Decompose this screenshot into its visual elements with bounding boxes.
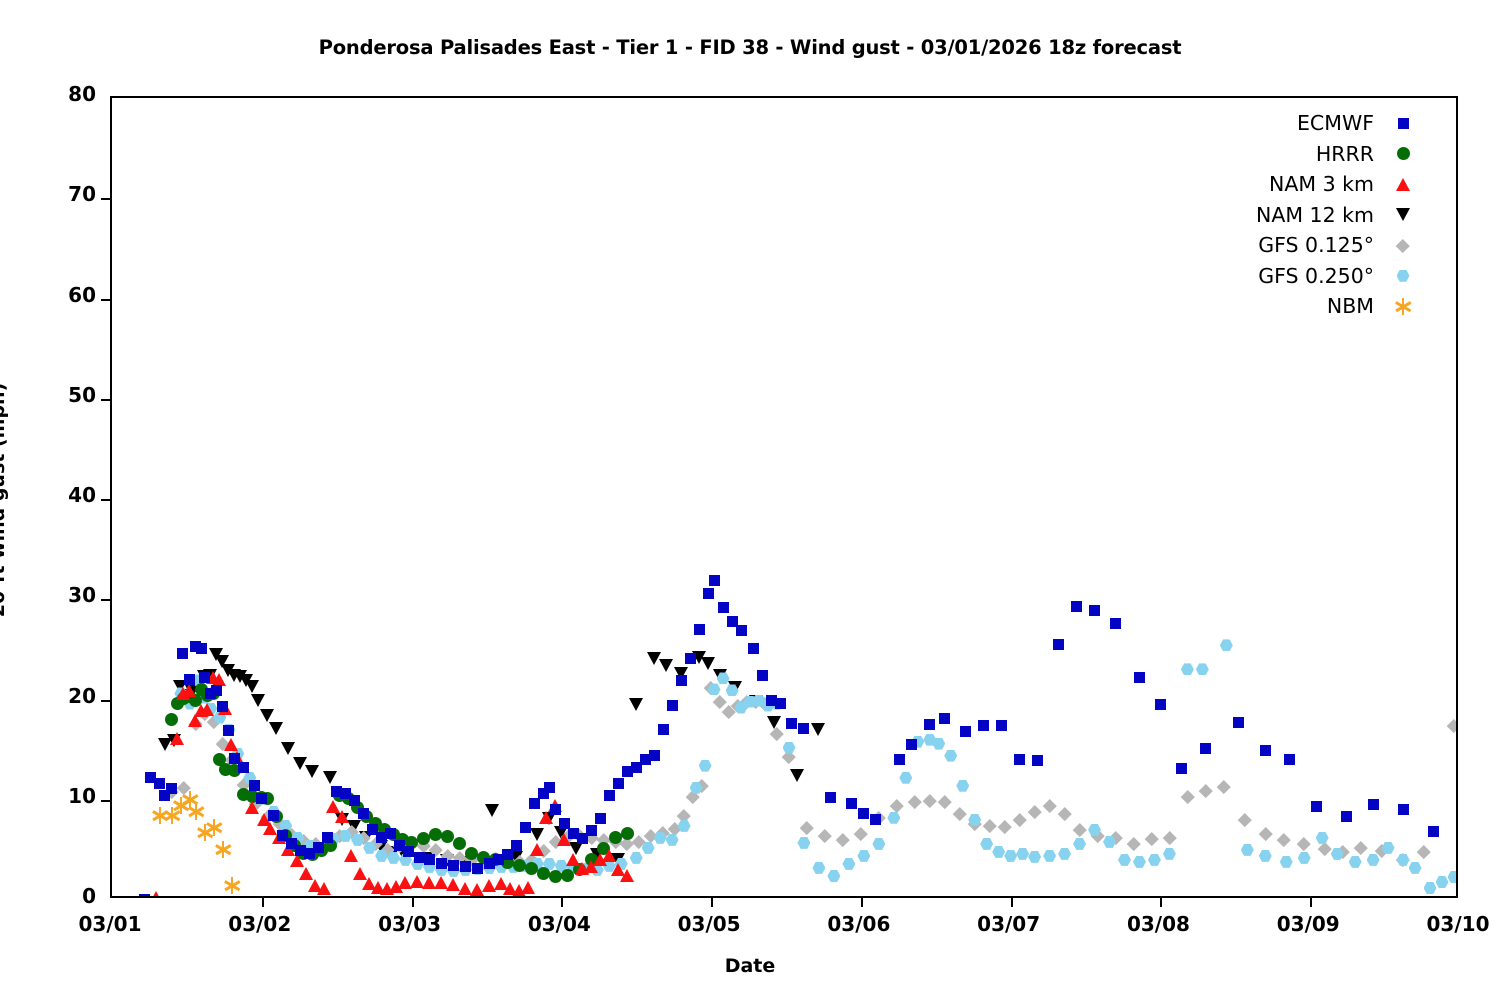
square-marker: [313, 842, 324, 853]
square-marker: [960, 726, 971, 737]
square-marker: [703, 588, 714, 599]
square-marker: [1032, 755, 1043, 766]
y-tick-label: 70: [26, 182, 96, 206]
legend-item-nam-12-km[interactable]: NAM 12 km: [1150, 200, 1420, 231]
square-marker: [511, 840, 522, 851]
x-axis-tick: [262, 896, 264, 907]
y-axis-tick: [101, 399, 112, 401]
square-marker: [676, 675, 687, 686]
square-marker: [211, 685, 222, 696]
square-marker: [414, 852, 425, 863]
square-marker: [858, 808, 869, 819]
x-axis-tick: [861, 896, 863, 907]
square-marker: [658, 724, 669, 735]
square-marker: [1398, 118, 1409, 129]
square-marker: [667, 700, 678, 711]
x-axis-tick: [561, 896, 563, 907]
square-marker: [604, 790, 615, 801]
square-marker: [685, 653, 696, 664]
legend-swatch: [1386, 298, 1420, 315]
square-marker: [472, 863, 483, 874]
square-marker: [775, 698, 786, 709]
y-tick-label: 50: [26, 383, 96, 407]
square-marker: [460, 861, 471, 872]
square-marker: [1284, 754, 1295, 765]
legend-item-nam-3-km[interactable]: NAM 3 km: [1150, 169, 1420, 200]
square-marker: [613, 778, 624, 789]
square-marker: [436, 858, 447, 869]
square-marker: [322, 832, 333, 843]
square-marker: [694, 624, 705, 635]
square-marker: [448, 860, 459, 871]
square-marker: [1398, 804, 1409, 815]
y-tick-label: 30: [26, 583, 96, 607]
x-tick-label: 03/10: [1398, 912, 1500, 936]
square-marker: [1155, 699, 1166, 710]
x-tick-label: 03/08: [1098, 912, 1218, 936]
square-marker: [1233, 717, 1244, 728]
x-tick-label: 03/02: [200, 912, 320, 936]
square-marker: [996, 720, 1007, 731]
square-marker: [846, 798, 857, 809]
square-marker: [1089, 605, 1100, 616]
square-marker: [1428, 826, 1439, 837]
chart-page: Ponderosa Palisades East - Tier 1 - FID …: [0, 0, 1500, 1000]
square-marker: [870, 814, 881, 825]
legend-item-ecmwf[interactable]: ECMWF: [1150, 108, 1420, 139]
square-marker: [199, 672, 210, 683]
square-marker: [718, 602, 729, 613]
square-marker: [520, 822, 531, 833]
diamond-marker: [1396, 239, 1409, 252]
x-tick-label: 03/07: [949, 912, 1069, 936]
x-axis-tick: [1160, 896, 1162, 907]
square-marker: [825, 792, 836, 803]
legend-item-hrrr[interactable]: HRRR: [1150, 139, 1420, 170]
legend-label: NAM 3 km: [1269, 172, 1374, 196]
legend-swatch: [1386, 241, 1420, 251]
square-marker: [550, 804, 561, 815]
circle-marker: [1397, 147, 1410, 160]
square-marker: [894, 754, 905, 765]
x-tick-label: 03/06: [799, 912, 919, 936]
x-axis-tick: [412, 896, 414, 907]
square-marker: [1053, 639, 1064, 650]
square-marker: [403, 846, 414, 857]
x-axis-tick: [1011, 896, 1013, 907]
y-axis-title: 20-ft wind gust (mph): [0, 290, 9, 710]
y-axis-tick: [101, 800, 112, 802]
square-marker: [529, 798, 540, 809]
square-marker: [1341, 811, 1352, 822]
page-title: Ponderosa Palisades East - Tier 1 - FID …: [0, 36, 1500, 59]
square-marker: [1368, 799, 1379, 810]
square-marker: [798, 723, 809, 734]
legend-item-gfs-0-125[interactable]: GFS 0.125°: [1150, 230, 1420, 261]
y-axis-tick: [101, 198, 112, 200]
square-marker: [586, 825, 597, 836]
square-marker: [238, 762, 249, 773]
square-marker: [736, 625, 747, 636]
square-marker: [1071, 601, 1082, 612]
square-marker: [1134, 672, 1145, 683]
legend-swatch: [1386, 178, 1420, 191]
legend-label: ECMWF: [1297, 111, 1374, 135]
legend-label: GFS 0.125°: [1258, 233, 1374, 257]
square-marker: [249, 780, 260, 791]
square-marker: [748, 643, 759, 654]
square-marker: [595, 813, 606, 824]
square-marker: [906, 739, 917, 750]
square-marker: [166, 783, 177, 794]
square-marker: [177, 648, 188, 659]
y-tick-label: 60: [26, 283, 96, 307]
y-tick-label: 80: [26, 82, 96, 106]
x-tick-label: 03/04: [499, 912, 619, 936]
square-marker: [217, 701, 228, 712]
legend-label: GFS 0.250°: [1258, 264, 1374, 288]
legend-swatch: [1386, 147, 1420, 160]
square-marker: [154, 778, 165, 789]
y-tick-label: 10: [26, 784, 96, 808]
square-marker: [978, 720, 989, 731]
legend-label: NBM: [1327, 294, 1374, 318]
square-marker: [223, 725, 234, 736]
x-tick-label: 03/05: [649, 912, 769, 936]
legend-label: NAM 12 km: [1256, 203, 1374, 227]
y-axis-tick: [101, 499, 112, 501]
x-tick-label: 03/03: [350, 912, 470, 936]
legend-swatch: [1386, 118, 1420, 129]
y-axis-tick: [101, 599, 112, 601]
square-marker: [256, 793, 267, 804]
x-tick-label: 03/01: [50, 912, 170, 936]
legend-swatch: [1386, 270, 1420, 282]
legend-label: HRRR: [1316, 142, 1374, 166]
asterisk-marker: [1395, 298, 1412, 315]
square-marker: [184, 674, 195, 685]
legend-swatch: [1386, 208, 1420, 221]
triangle-up-marker: [1396, 178, 1410, 191]
square-marker: [757, 670, 768, 681]
x-axis-tick: [1310, 896, 1312, 907]
y-tick-label: 20: [26, 684, 96, 708]
square-marker: [268, 810, 279, 821]
square-marker: [196, 643, 207, 654]
square-marker: [1176, 763, 1187, 774]
square-marker: [139, 894, 150, 897]
y-axis-tick: [101, 700, 112, 702]
legend-item-nbm[interactable]: NBM: [1150, 291, 1420, 322]
x-axis-title: Date: [0, 955, 1500, 977]
square-marker: [1200, 743, 1211, 754]
square-marker: [385, 828, 396, 839]
y-tick-label: 0: [26, 884, 96, 908]
legend: ECMWFHRRRNAM 3 kmNAM 12 kmGFS 0.125°GFS …: [1150, 108, 1420, 322]
x-axis-tick: [711, 896, 713, 907]
square-marker: [1014, 754, 1025, 765]
square-marker: [358, 808, 369, 819]
x-tick-label: 03/09: [1248, 912, 1368, 936]
square-marker: [924, 719, 935, 730]
square-marker: [1260, 745, 1271, 756]
triangle-down-marker: [1396, 208, 1410, 221]
square-marker: [649, 750, 660, 761]
hexagon-marker: [1397, 270, 1410, 282]
square-marker: [349, 795, 360, 806]
square-marker: [424, 854, 435, 865]
legend-item-gfs-0-250[interactable]: GFS 0.250°: [1150, 261, 1420, 292]
y-axis-tick: [101, 299, 112, 301]
square-marker: [709, 575, 720, 586]
y-tick-label: 40: [26, 483, 96, 507]
square-marker: [1311, 801, 1322, 812]
square-marker: [1110, 618, 1121, 629]
square-marker: [544, 782, 555, 793]
square-marker: [786, 718, 797, 729]
square-marker: [939, 713, 950, 724]
